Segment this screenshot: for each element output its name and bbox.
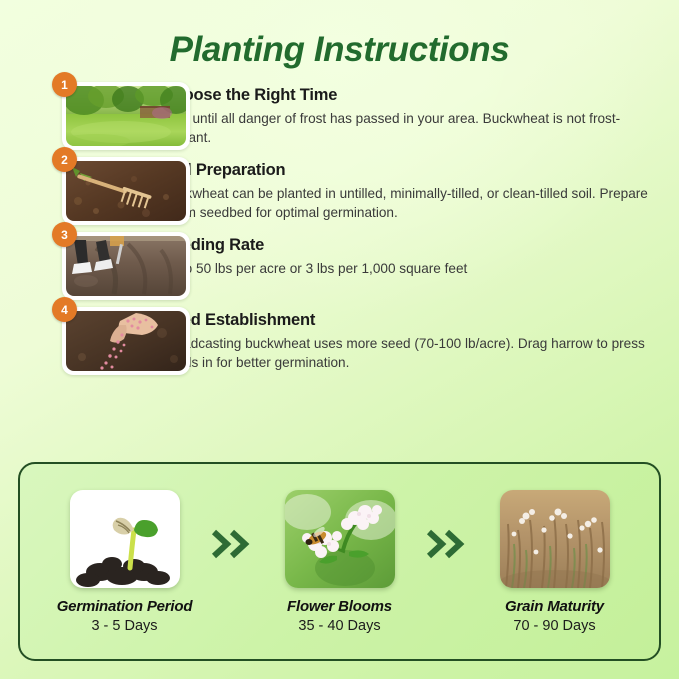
step-text: Choose the Right Time Wait until all dan… bbox=[146, 82, 679, 148]
step-description: 40 to 50 lbs per acre or 3 lbs per 1,000… bbox=[162, 259, 649, 278]
list-item: 1 bbox=[0, 82, 679, 150]
timeline-stage-maturity: Grain Maturity 70 - 90 Days bbox=[472, 490, 637, 634]
seeding-field-image bbox=[66, 236, 186, 296]
step-thumbnail-wrap: 1 bbox=[0, 82, 146, 150]
step-thumbnail-wrap: 4 bbox=[0, 307, 146, 375]
step-description: Buckwheat can be planted in untilled, mi… bbox=[162, 184, 649, 223]
step-title: Choose the Right Time bbox=[162, 86, 649, 105]
rake-soil-image bbox=[66, 161, 186, 221]
step-title: Seed Establishment bbox=[162, 311, 649, 330]
step-text: Soil Preparation Buckwheat can be plante… bbox=[146, 157, 679, 223]
buckwheat-flower-illustration bbox=[285, 490, 395, 588]
timeline-stage-flower: Flower Blooms 35 - 40 Days bbox=[257, 490, 422, 634]
lawn-illustration bbox=[66, 86, 186, 146]
chevron-glyphs bbox=[426, 529, 468, 559]
timeline-stage-label: Grain Maturity bbox=[472, 598, 637, 615]
timeline-stage-label: Flower Blooms bbox=[257, 598, 422, 615]
hand-seeding-illustration bbox=[66, 311, 186, 371]
steps-list: 1 bbox=[0, 82, 679, 382]
growth-timeline-panel: Germination Period 3 - 5 Days bbox=[18, 462, 661, 661]
step-text: Seeding Rate 40 to 50 lbs per acre or 3 … bbox=[146, 232, 679, 278]
step-thumbnail-card: 2 bbox=[62, 157, 190, 225]
step-description: Broadcasting buckwheat uses more seed (7… bbox=[162, 334, 649, 373]
double-chevron-right-icon bbox=[209, 529, 255, 559]
step-thumbnail-wrap: 3 bbox=[0, 232, 146, 300]
list-item: 2 bbox=[0, 157, 679, 225]
step-number-badge: 4 bbox=[52, 297, 77, 322]
hand-seeding-image bbox=[66, 311, 186, 371]
step-text: Seed Establishment Broadcasting buckwhea… bbox=[146, 307, 679, 373]
list-item: 3 bbox=[0, 232, 679, 300]
chevron-glyphs bbox=[211, 529, 253, 559]
timeline-stage-days: 70 - 90 Days bbox=[472, 618, 637, 634]
timeline-stage-days: 35 - 40 Days bbox=[257, 618, 422, 634]
step-number-badge: 3 bbox=[52, 222, 77, 247]
seeding-field-illustration bbox=[66, 236, 186, 296]
step-number-badge: 1 bbox=[52, 72, 77, 97]
timeline-stage-days: 3 - 5 Days bbox=[42, 618, 207, 634]
step-description: Wait until all danger of frost has passe… bbox=[162, 109, 649, 148]
seedling-image bbox=[70, 490, 180, 588]
rake-soil-illustration bbox=[66, 161, 186, 221]
step-thumbnail-wrap: 2 bbox=[0, 157, 146, 225]
step-thumbnail-card: 1 bbox=[62, 82, 190, 150]
step-title: Soil Preparation bbox=[162, 161, 649, 180]
flower-image bbox=[285, 490, 395, 588]
timeline-stage-label: Germination Period bbox=[42, 598, 207, 615]
step-thumbnail-card: 4 bbox=[62, 307, 190, 375]
mature-field-image bbox=[500, 490, 610, 588]
planting-instructions-infographic: Planting Instructions 1 bbox=[0, 0, 679, 679]
seedling-illustration bbox=[70, 490, 180, 588]
step-title: Seeding Rate bbox=[162, 236, 649, 255]
list-item: 4 bbox=[0, 307, 679, 375]
lawn-image bbox=[66, 86, 186, 146]
timeline-stage-germination: Germination Period 3 - 5 Days bbox=[42, 490, 207, 634]
page-title: Planting Instructions bbox=[0, 30, 679, 70]
step-thumbnail-card: 3 bbox=[62, 232, 190, 300]
mature-buckwheat-illustration bbox=[500, 490, 610, 588]
double-chevron-right-icon bbox=[424, 529, 470, 559]
step-number-badge: 2 bbox=[52, 147, 77, 172]
